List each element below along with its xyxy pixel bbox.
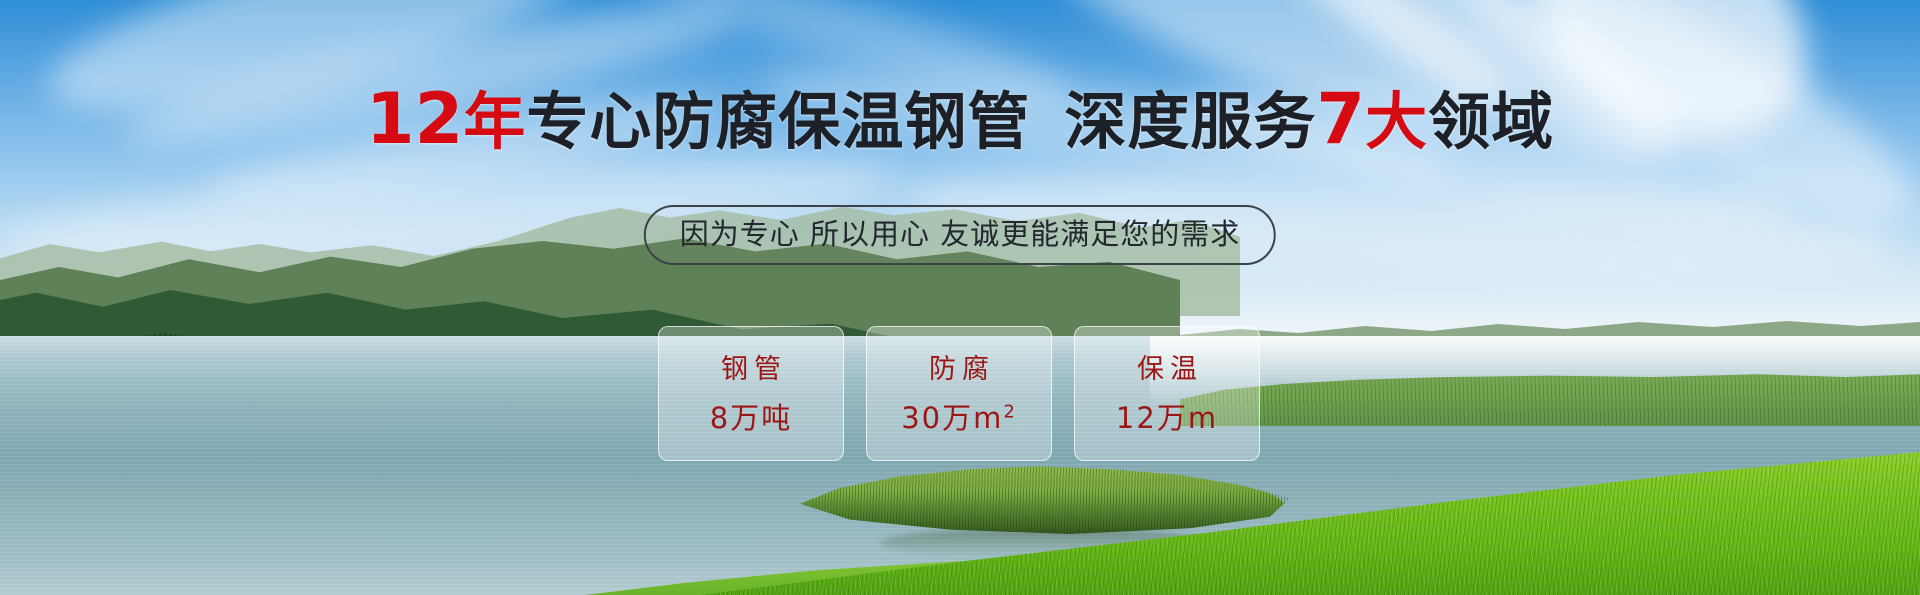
headline-service-phrase: 深度服务	[1064, 85, 1316, 158]
stat-card-anticorrosion[interactable]: 防腐 30万m2	[866, 326, 1052, 461]
headline: 12年专心防腐保温钢管深度服务7大领域	[0, 86, 1920, 155]
stat-card-value-text: 8万吨	[710, 401, 792, 435]
stat-card-title: 防腐	[923, 353, 995, 387]
stat-card-title: 钢管	[715, 353, 787, 387]
stat-card-value: 8万吨	[710, 401, 792, 435]
subtitle-pill: 因为专心 所以用心 友诚更能满足您的需求	[644, 205, 1276, 265]
stat-card-title: 保温	[1131, 353, 1203, 387]
headline-fields-word: 领域	[1428, 85, 1554, 158]
headline-years-number: 12	[366, 78, 463, 160]
headline-years-unit: 年	[463, 85, 526, 158]
headline-main-phrase: 专心防腐保温钢管	[526, 85, 1030, 158]
stat-card-steel-pipe[interactable]: 钢管 8万吨	[658, 326, 844, 461]
stat-card-value: 30万m2	[901, 401, 1017, 435]
stat-card-value: 12万m	[1116, 401, 1218, 435]
sky-background	[0, 0, 1920, 340]
headline-fields-measure: 大	[1365, 85, 1428, 158]
hero-banner: 12年专心防腐保温钢管深度服务7大领域 因为专心 所以用心 友诚更能满足您的需求…	[0, 0, 1920, 595]
stat-card-insulation[interactable]: 保温 12万m	[1074, 326, 1260, 461]
stat-card-list: 钢管 8万吨 防腐 30万m2 保温 12万m	[658, 326, 1260, 461]
stat-card-value-superscript: 2	[1003, 401, 1016, 422]
stat-card-value-text: 30万m	[901, 401, 1003, 435]
headline-fields-number: 7	[1316, 78, 1365, 160]
stat-card-value-text: 12万m	[1116, 401, 1218, 435]
